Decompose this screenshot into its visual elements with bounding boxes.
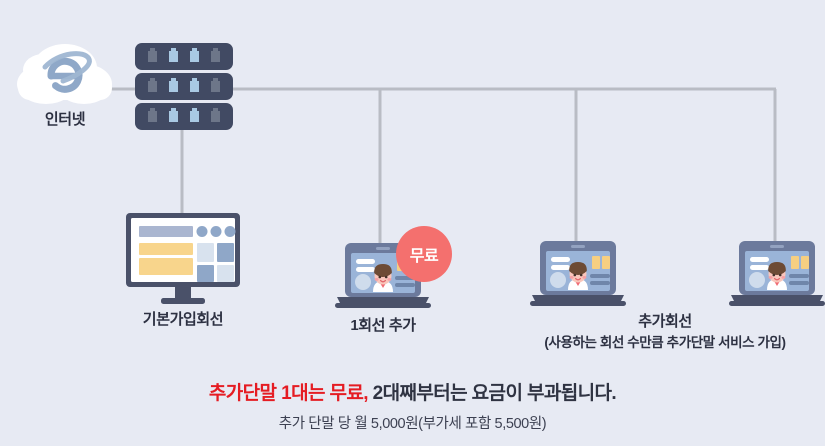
free-badge-label: 무료 xyxy=(410,242,438,266)
footer-main-text: 추가단말 1대는 무료, 2대째부터는 요금이 부과됩니다. xyxy=(0,378,825,405)
extra-line-label: 추가회선 xyxy=(570,310,760,331)
footer-rest: 2대째부터는 요금이 부과됩니다. xyxy=(368,383,616,404)
desktop-monitor-icon xyxy=(125,212,241,304)
internet-explorer-cloud-icon xyxy=(10,38,120,108)
node-line-3 xyxy=(729,238,825,310)
footer-sub-text: 추가 단말 당 월 5,000원(부가세 포함 5,500원) xyxy=(0,412,825,433)
node-line-2 xyxy=(530,238,626,310)
laptop-icon xyxy=(530,238,626,310)
server-rack-icon xyxy=(134,43,234,131)
diagram-canvas: 인터넷 xyxy=(0,0,825,446)
free-badge: 무료 xyxy=(396,226,452,282)
internet-label: 인터넷 xyxy=(7,108,123,129)
node-base-line: 기본가입회선 xyxy=(125,212,241,304)
laptop-icon xyxy=(729,238,825,310)
line-1-label: 1회선 추가 xyxy=(303,314,463,335)
extra-line-note: (사용하는 회선 수만큼 추가단말 서비스 가입) xyxy=(520,331,810,351)
base-line-label: 기본가입회선 xyxy=(85,308,281,329)
node-internet: 인터넷 xyxy=(10,38,120,108)
footer-highlight: 추가단말 1대는 무료, xyxy=(209,383,368,404)
node-server-rack xyxy=(134,43,234,131)
